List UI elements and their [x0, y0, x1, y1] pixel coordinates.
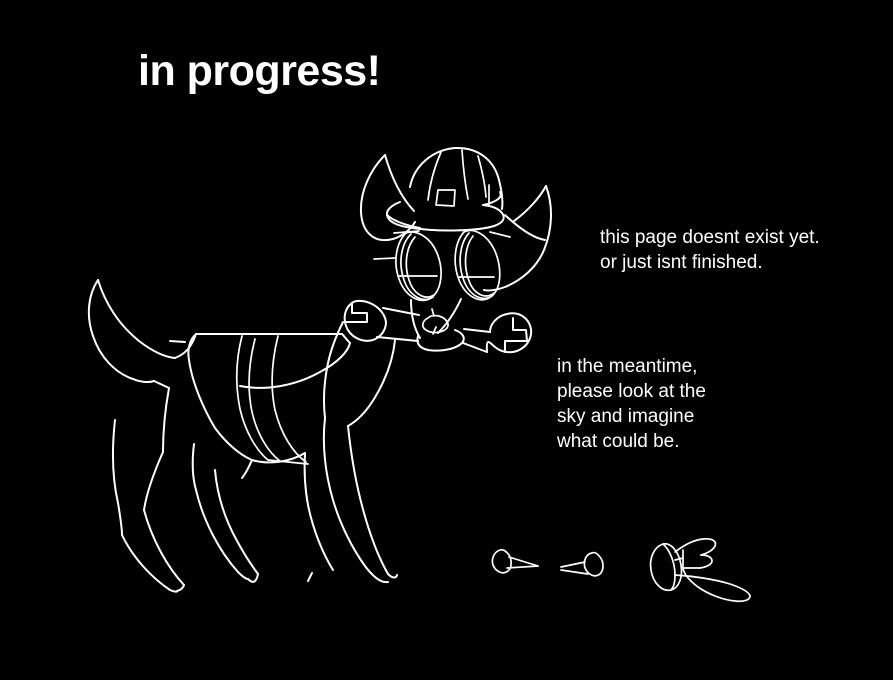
error-page-canvas: in progress! this page doesnt exist yet.… — [0, 0, 893, 680]
left-ear — [374, 231, 441, 300]
page-title: in progress! — [138, 49, 381, 94]
nail-left — [492, 550, 538, 573]
goat-tail — [89, 280, 196, 452]
right-ear — [455, 231, 510, 300]
front-legs — [305, 418, 397, 582]
harness-straps — [237, 336, 308, 464]
meantime-message: in the meantime, please look at the sky … — [557, 354, 706, 454]
page-missing-message: this page doesnt exist yet. or just isnt… — [600, 225, 820, 275]
goat-construction-illustration — [0, 0, 893, 680]
hammer-tool — [651, 539, 750, 601]
goat-head — [411, 299, 464, 351]
wrench-tool — [345, 301, 532, 352]
hard-hat — [387, 148, 504, 231]
hind-legs — [113, 420, 258, 592]
nail-right — [561, 553, 603, 576]
